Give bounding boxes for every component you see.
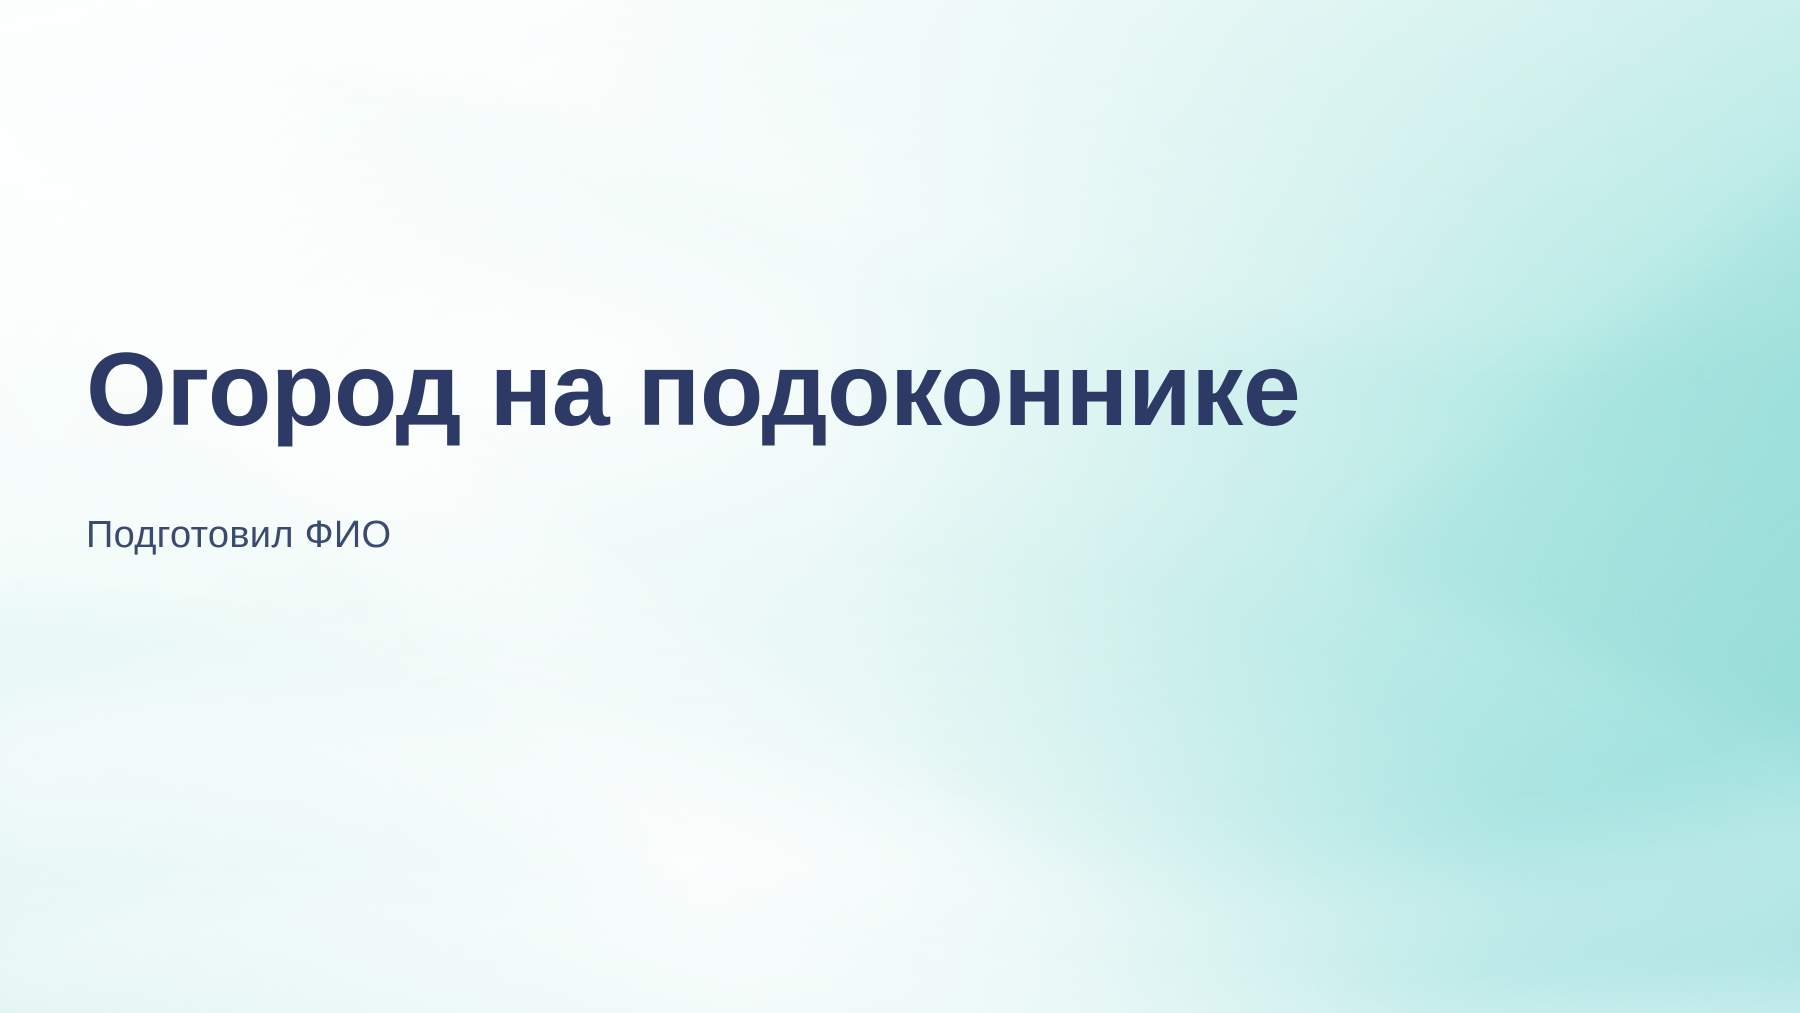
lower-sweep-wave [0, 676, 1800, 1013]
title-slide: Огород на подоконнике Подготовил ФИО [0, 0, 1800, 1013]
page-title: Огород на подоконнике [86, 330, 1706, 451]
title-text-block: Огород на подоконнике Подготовил ФИО [86, 330, 1706, 560]
upper-curve-wave [0, 0, 1800, 349]
bottom-crest-wave [0, 887, 1800, 1013]
slide-subtitle: Подготовил ФИО [86, 451, 1706, 560]
